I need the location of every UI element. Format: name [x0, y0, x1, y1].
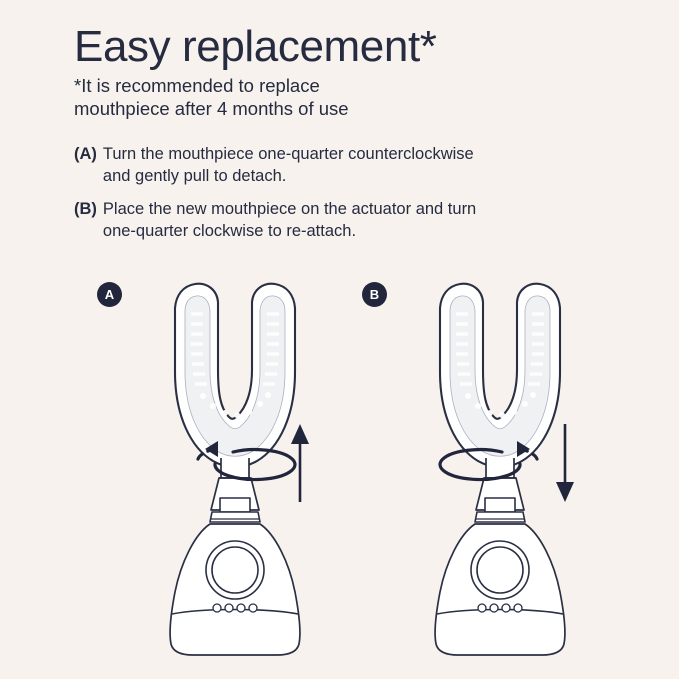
push-direction-arrow-down-b [556, 424, 574, 502]
replacement-instructions-page: Easy replacement* *It is recommended to … [0, 0, 679, 679]
step-badge-b: B [362, 282, 387, 307]
power-button-inner-ring-a [212, 547, 258, 593]
step-b-key: (B) [74, 199, 97, 221]
step-a-text: Turn the mouthpiece one-quarter counterc… [103, 144, 503, 188]
diagram-panel-a: A [85, 262, 385, 662]
header-text-block: Easy replacement* *It is recommended to … [74, 24, 614, 121]
step-b-text: Place the new mouthpiece on the actuator… [103, 199, 503, 243]
actuator-collar-b [475, 512, 525, 522]
diagram-illustration-a [85, 262, 385, 662]
page-title: Easy replacement* [74, 24, 614, 70]
actuator-collar-a [210, 512, 260, 522]
step-b: (B) Place the new mouthpiece on the actu… [74, 199, 614, 243]
diagram-area: A [0, 262, 679, 662]
actuator-base-a [170, 498, 300, 655]
steps-list: (A) Turn the mouthpiece one-quarter coun… [74, 144, 614, 254]
power-button-inner-ring-b [477, 547, 523, 593]
mouthpiece-inner-channel-a [185, 296, 285, 456]
step-a: (A) Turn the mouthpiece one-quarter coun… [74, 144, 614, 188]
mouthpiece-inner-channel-b [450, 296, 550, 456]
diagram-panel-b: B [350, 262, 650, 662]
step-a-key: (A) [74, 144, 97, 166]
actuator-plug-a [220, 498, 250, 512]
actuator-plug-b [485, 498, 515, 512]
replacement-note: *It is recommended to replace mouthpiece… [74, 74, 404, 121]
step-badge-a: A [97, 282, 122, 307]
diagram-illustration-b [350, 262, 650, 662]
actuator-base-b [435, 498, 565, 655]
